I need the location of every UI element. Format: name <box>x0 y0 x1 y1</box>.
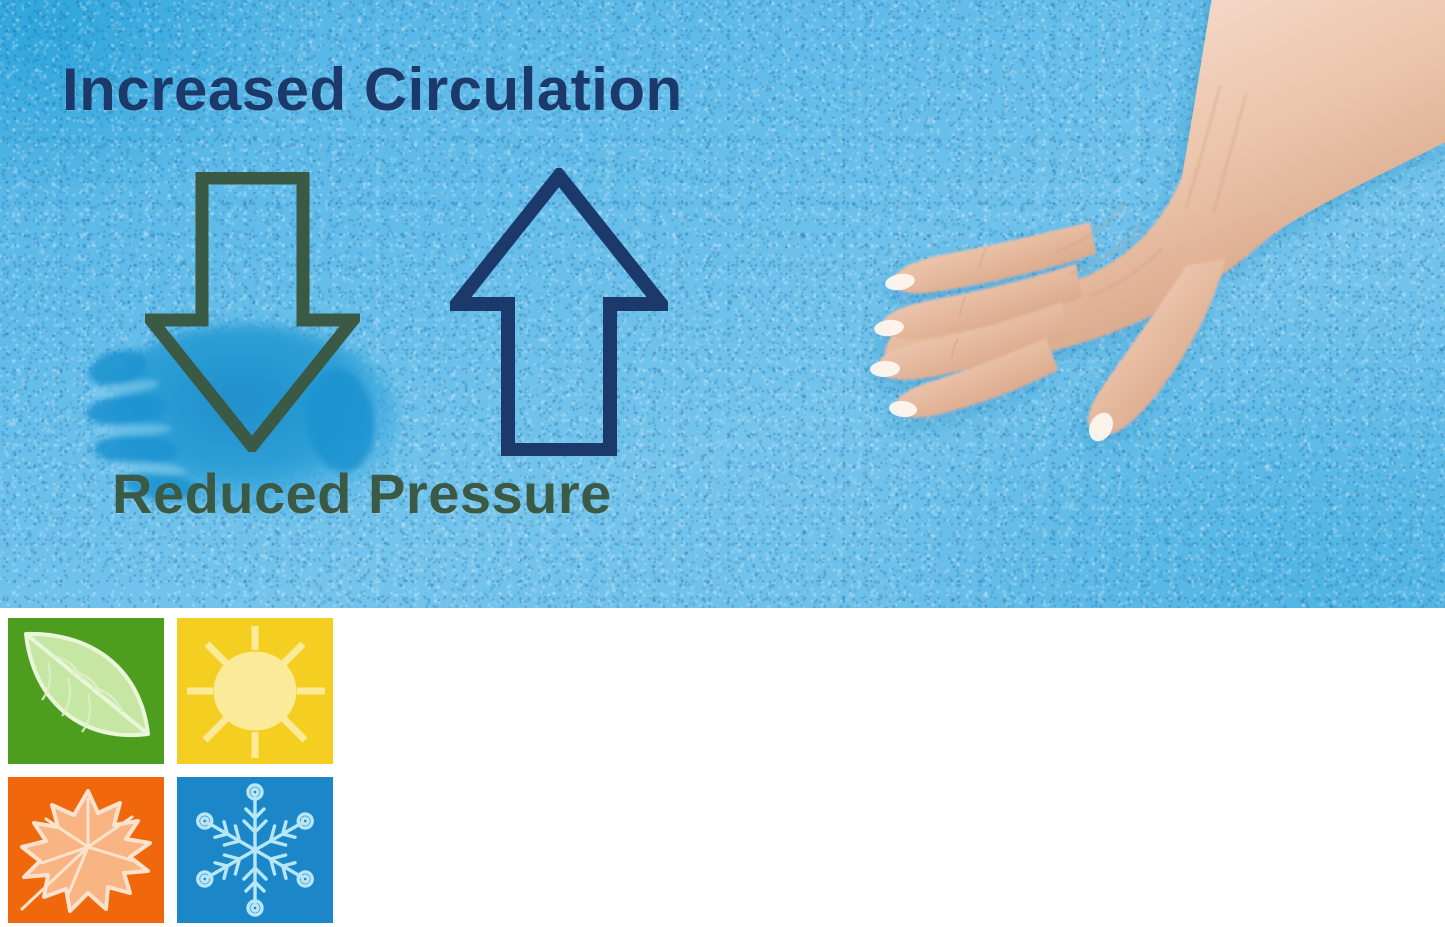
four-seasons-icon-grid <box>8 618 335 920</box>
season-tile-summer <box>177 618 333 764</box>
gel-memory-foam-photo: Increased Circulation Reduced Pressure <box>0 0 1445 608</box>
caption-reduced-pressure: Reduced Pressure <box>112 466 612 522</box>
season-tile-autumn <box>8 777 164 923</box>
product-info-panel: 100% GEL-Infused Memory Foam with Temper… <box>0 608 1445 927</box>
snowflake-icon <box>193 785 317 915</box>
caption-increased-circulation: Increased Circulation <box>62 60 683 120</box>
human-hand <box>790 0 1445 550</box>
maple-leaf-icon <box>22 791 150 911</box>
season-tile-spring <box>8 618 164 764</box>
season-tile-winter <box>177 777 333 923</box>
leaf-icon <box>26 634 148 735</box>
sun-icon <box>187 626 325 758</box>
arrow-up-icon <box>450 168 668 456</box>
arrow-down-icon <box>145 172 360 452</box>
product-feature-poster: Increased Circulation Reduced Pressure <box>0 0 1445 927</box>
